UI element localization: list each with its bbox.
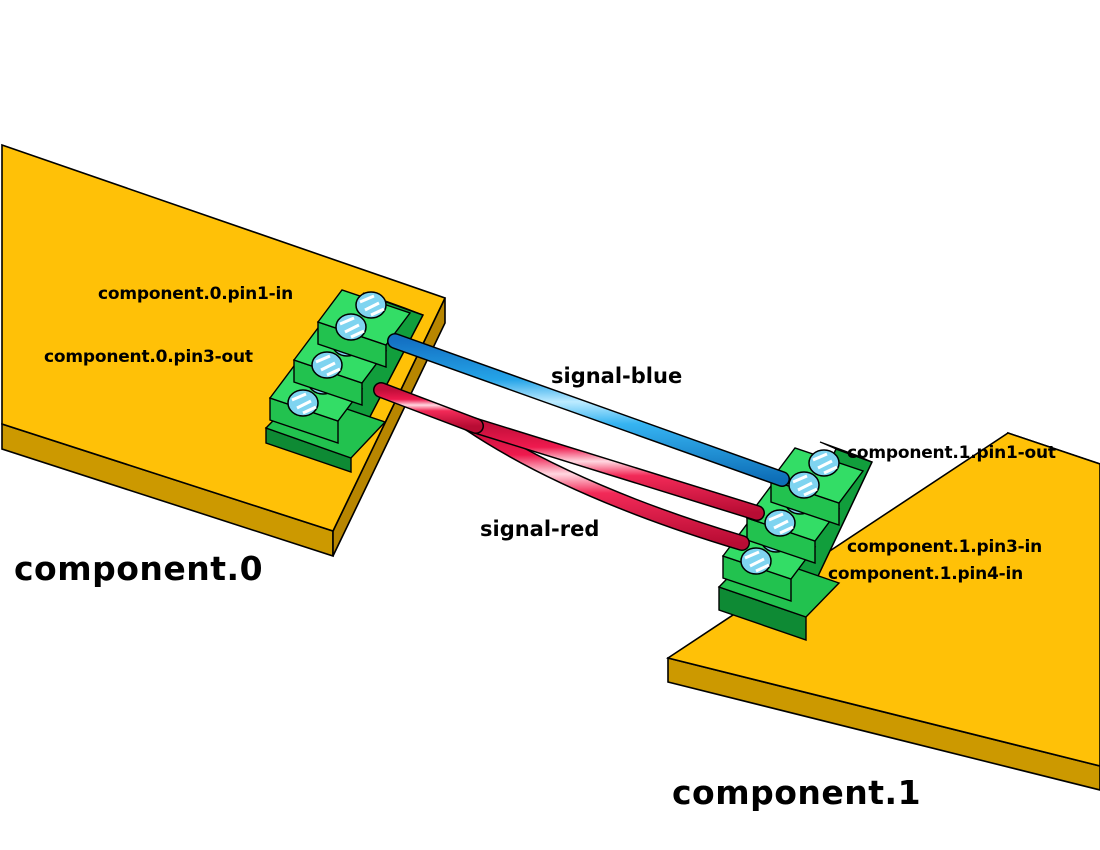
pin-label-component-1-pin4-in: component.1.pin4-in <box>828 566 1023 583</box>
board-label-component-1: component.1 <box>672 776 921 809</box>
pin-label-component-0-pin3-out: component.0.pin3-out <box>44 349 253 366</box>
board-label-component-0: component.0 <box>14 552 263 585</box>
wiring-diagram-svg <box>0 0 1100 850</box>
pin-label-component-1-pin1-out: component.1.pin1-out <box>847 445 1056 462</box>
pin-label-component-1-pin3-in: component.1.pin3-in <box>847 539 1042 556</box>
signal-label-red: signal-red <box>480 519 599 540</box>
signal-label-blue: signal-blue <box>551 366 682 387</box>
diagram-canvas: component.0.pin1-in component.0.pin3-out… <box>0 0 1100 850</box>
pin-label-component-0-pin1-in: component.0.pin1-in <box>98 286 293 303</box>
